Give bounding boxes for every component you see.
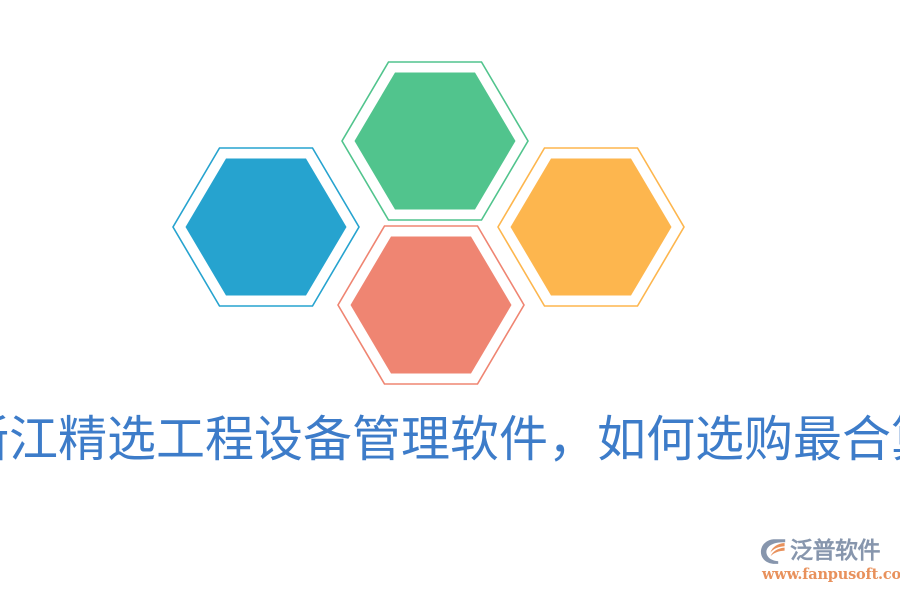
brand-name: 泛普软件 [790, 538, 880, 565]
orange-hexagon [496, 132, 686, 322]
brand-url: www.fanpusoft.com [762, 566, 900, 583]
blue-hexagon-fill [186, 159, 347, 296]
brand-row: 泛普软件 [760, 536, 880, 566]
orange-hexagon-fill [511, 159, 672, 296]
page-canvas: 浙江精选工程设备管理软件，如何选购最合算 泛普软件 www.fanpusoft.… [0, 0, 900, 600]
hexagon-cluster-graphic [0, 0, 900, 410]
brand-watermark: 泛普软件 www.fanpusoft.com [760, 536, 892, 586]
fanpu-logo-icon [760, 538, 787, 565]
green-hexagon-fill [355, 73, 516, 210]
page-title: 浙江精选工程设备管理软件，如何选购最合算 [0, 404, 900, 476]
blue-hexagon [171, 132, 361, 322]
red-hexagon-fill [351, 237, 512, 374]
